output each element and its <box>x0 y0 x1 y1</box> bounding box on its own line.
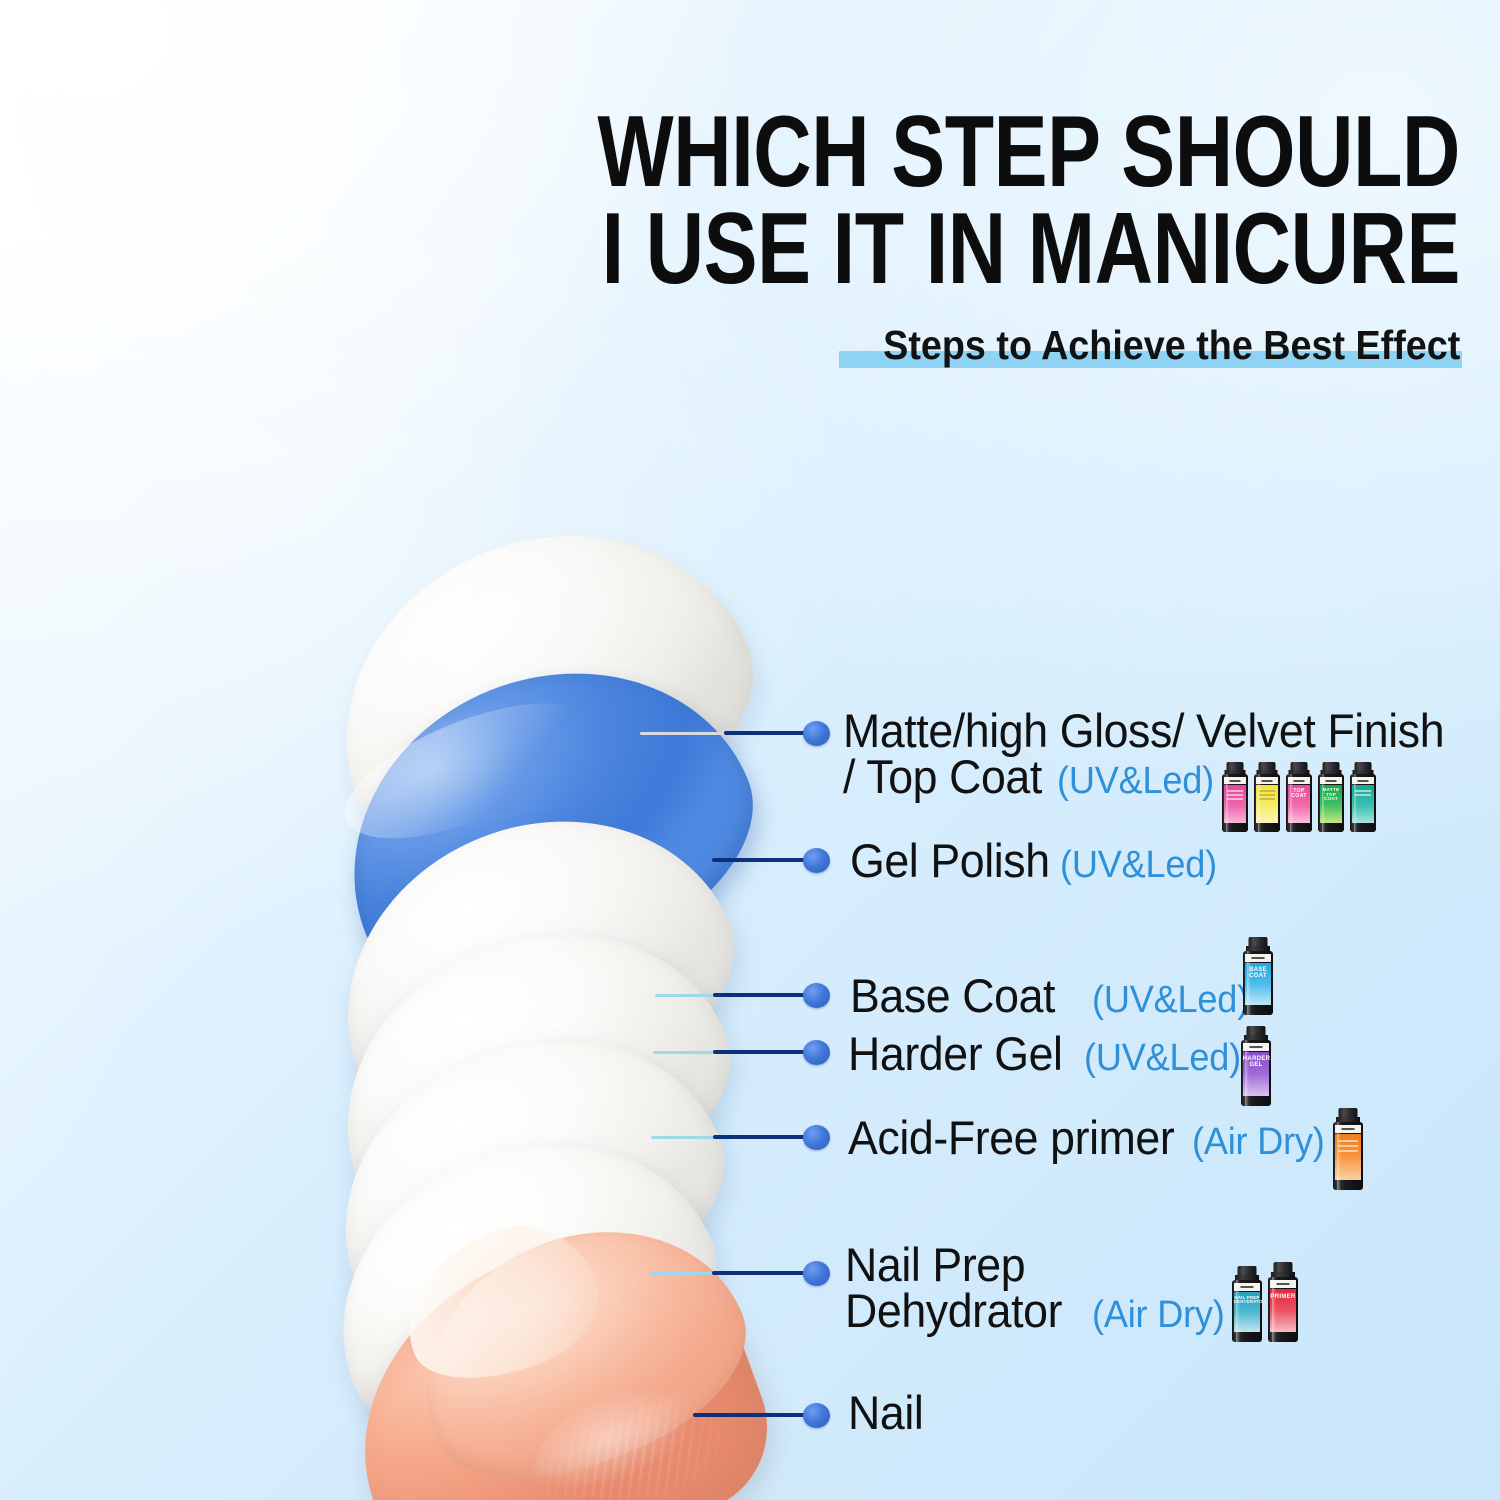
bottle-top-coat-5 <box>1350 762 1376 832</box>
bottle-top-coat-2 <box>1254 762 1280 832</box>
callout-top-coat-line2: / Top Coat <box>843 754 1042 800</box>
callout-top-coat-line1: Matte/high Gloss/ Velvet Finish <box>843 708 1444 754</box>
subtitle-text: Steps to Achieve the Best Effect <box>883 322 1460 369</box>
callout-gel-polish: Gel Polish(UV&Led) <box>850 833 1225 888</box>
callout-nail-name: Nail <box>848 1385 923 1440</box>
bottle-group-dehydrator-set: NAIL PREP DEHYDRATOR PRIMER <box>1232 1262 1302 1342</box>
page-subtitle: Steps to Achieve the Best Effect <box>833 322 1460 369</box>
bottle-top-coat-1 <box>1222 762 1248 832</box>
leader-line-gel-polish <box>712 857 835 863</box>
callout-acid-free-primer: Acid-Free primer(Air Dry) <box>848 1110 1331 1165</box>
layer-nail-finger <box>352 1238 782 1500</box>
infographic-canvas: WHICH STEP SHOULD I USE IT IN MANICURE S… <box>0 0 1500 1500</box>
callout-nail-prep-dehydrator-cure: (Air Dry) <box>1092 1297 1225 1334</box>
callout-nail-prep-dehydrator-line1: Nail Prep <box>845 1242 1025 1288</box>
bottle-primer: PRIMER <box>1268 1262 1298 1342</box>
callout-harder-gel-cure: (UV&Led) <box>1084 1037 1241 1080</box>
leader-line-top-coat <box>640 730 835 736</box>
callout-gel-polish-name: Gel Polish <box>850 833 1050 888</box>
bottle-harder-gel: HARDER GEL <box>1241 1026 1271 1106</box>
callout-base-coat: Base Coat (UV&Led) <box>850 968 1258 1023</box>
bottle-top-coat-4: MATTE TOP COAT <box>1318 762 1344 832</box>
callout-acid-free-primer-name: Acid-Free primer <box>848 1110 1174 1165</box>
callout-base-coat-name: Base Coat <box>850 968 1055 1023</box>
bottle-group-top-coat-set: TOP COAT MATTE TOP COAT <box>1222 760 1382 835</box>
leader-line-acid-free-primer <box>651 1134 835 1140</box>
bottle-top-coat-3: TOP COAT <box>1286 762 1312 832</box>
callout-nail-prep-dehydrator-line2: Dehydrator <box>845 1288 1062 1334</box>
callout-nail: Nail <box>848 1385 927 1440</box>
callout-harder-gel-name: Harder Gel <box>848 1026 1063 1081</box>
callout-harder-gel: Harder Gel (UV&Led) <box>848 1026 1250 1081</box>
bottle-base-coat: BASE COAT <box>1243 937 1273 1015</box>
callout-acid-free-primer-cure: (Air Dry) <box>1192 1121 1325 1164</box>
bottle-nail-prep-dehydrator: NAIL PREP DEHYDRATOR <box>1232 1266 1262 1342</box>
leader-line-nail-prep-dehydrator <box>650 1270 835 1276</box>
callout-base-coat-cure: (UV&Led) <box>1092 979 1249 1022</box>
leader-line-base-coat <box>655 992 835 998</box>
callout-gel-polish-cure: (UV&Led) <box>1060 844 1217 887</box>
bottle-acid-free-primer <box>1333 1108 1363 1190</box>
callout-top-coat-cure: (UV&Led) <box>1057 763 1214 800</box>
callout-nail-prep-dehydrator: Nail Prep Dehydrator (Air Dry) <box>845 1242 1232 1334</box>
leader-line-harder-gel <box>653 1049 835 1055</box>
leader-line-nail <box>693 1412 835 1418</box>
